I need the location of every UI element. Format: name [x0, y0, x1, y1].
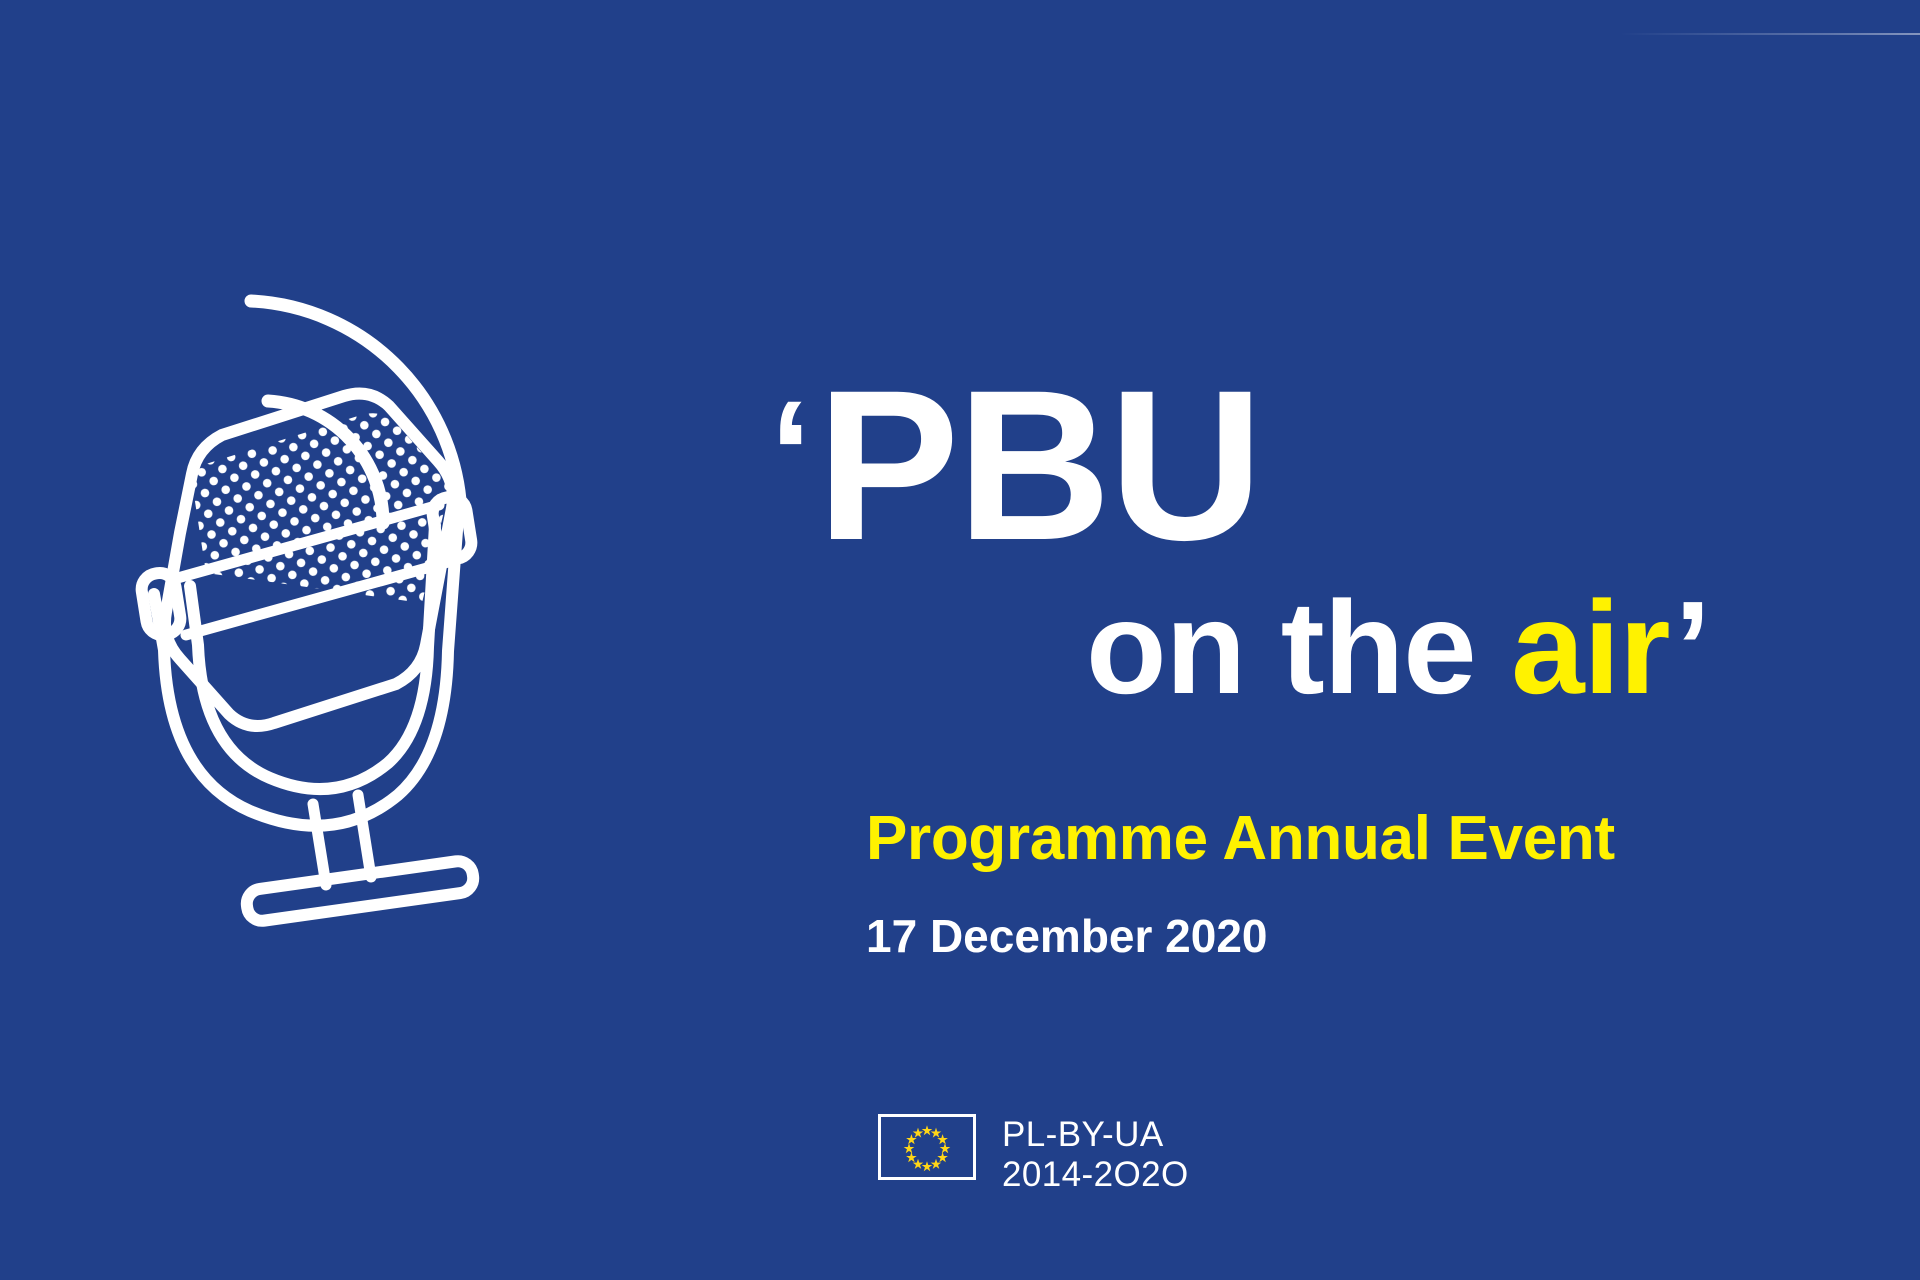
headline-air-word: air — [1511, 574, 1674, 721]
closing-quote-mark: ’ — [1674, 574, 1710, 721]
programme-period: 2014-2O2O — [1002, 1155, 1189, 1195]
vintage-microphone-icon — [130, 255, 590, 955]
headline-line-two: on the air’ — [770, 582, 1710, 714]
headline-line-one: ‘PBU — [770, 372, 1830, 560]
programme-name-block: PL-BY-UA 2014-2O2O — [1002, 1114, 1189, 1195]
edge-highlight-streak — [1620, 33, 1920, 35]
headline-block: ‘PBU on the air’ — [770, 372, 1830, 692]
headline-on-the: on the — [1086, 574, 1511, 721]
event-date: 17 December 2020 — [866, 912, 1268, 960]
poster-canvas: ‘PBU on the air’ Programme Annual Event … — [0, 0, 1920, 1280]
eu-flag-icon — [878, 1114, 976, 1180]
programme-logo-lockup: PL-BY-UA 2014-2O2O — [878, 1114, 1189, 1195]
programme-name: PL-BY-UA — [1002, 1115, 1189, 1155]
headline-main-word: PBU — [817, 346, 1261, 585]
event-subtitle: Programme Annual Event — [866, 806, 1615, 871]
opening-quote-mark: ‘ — [770, 369, 815, 537]
